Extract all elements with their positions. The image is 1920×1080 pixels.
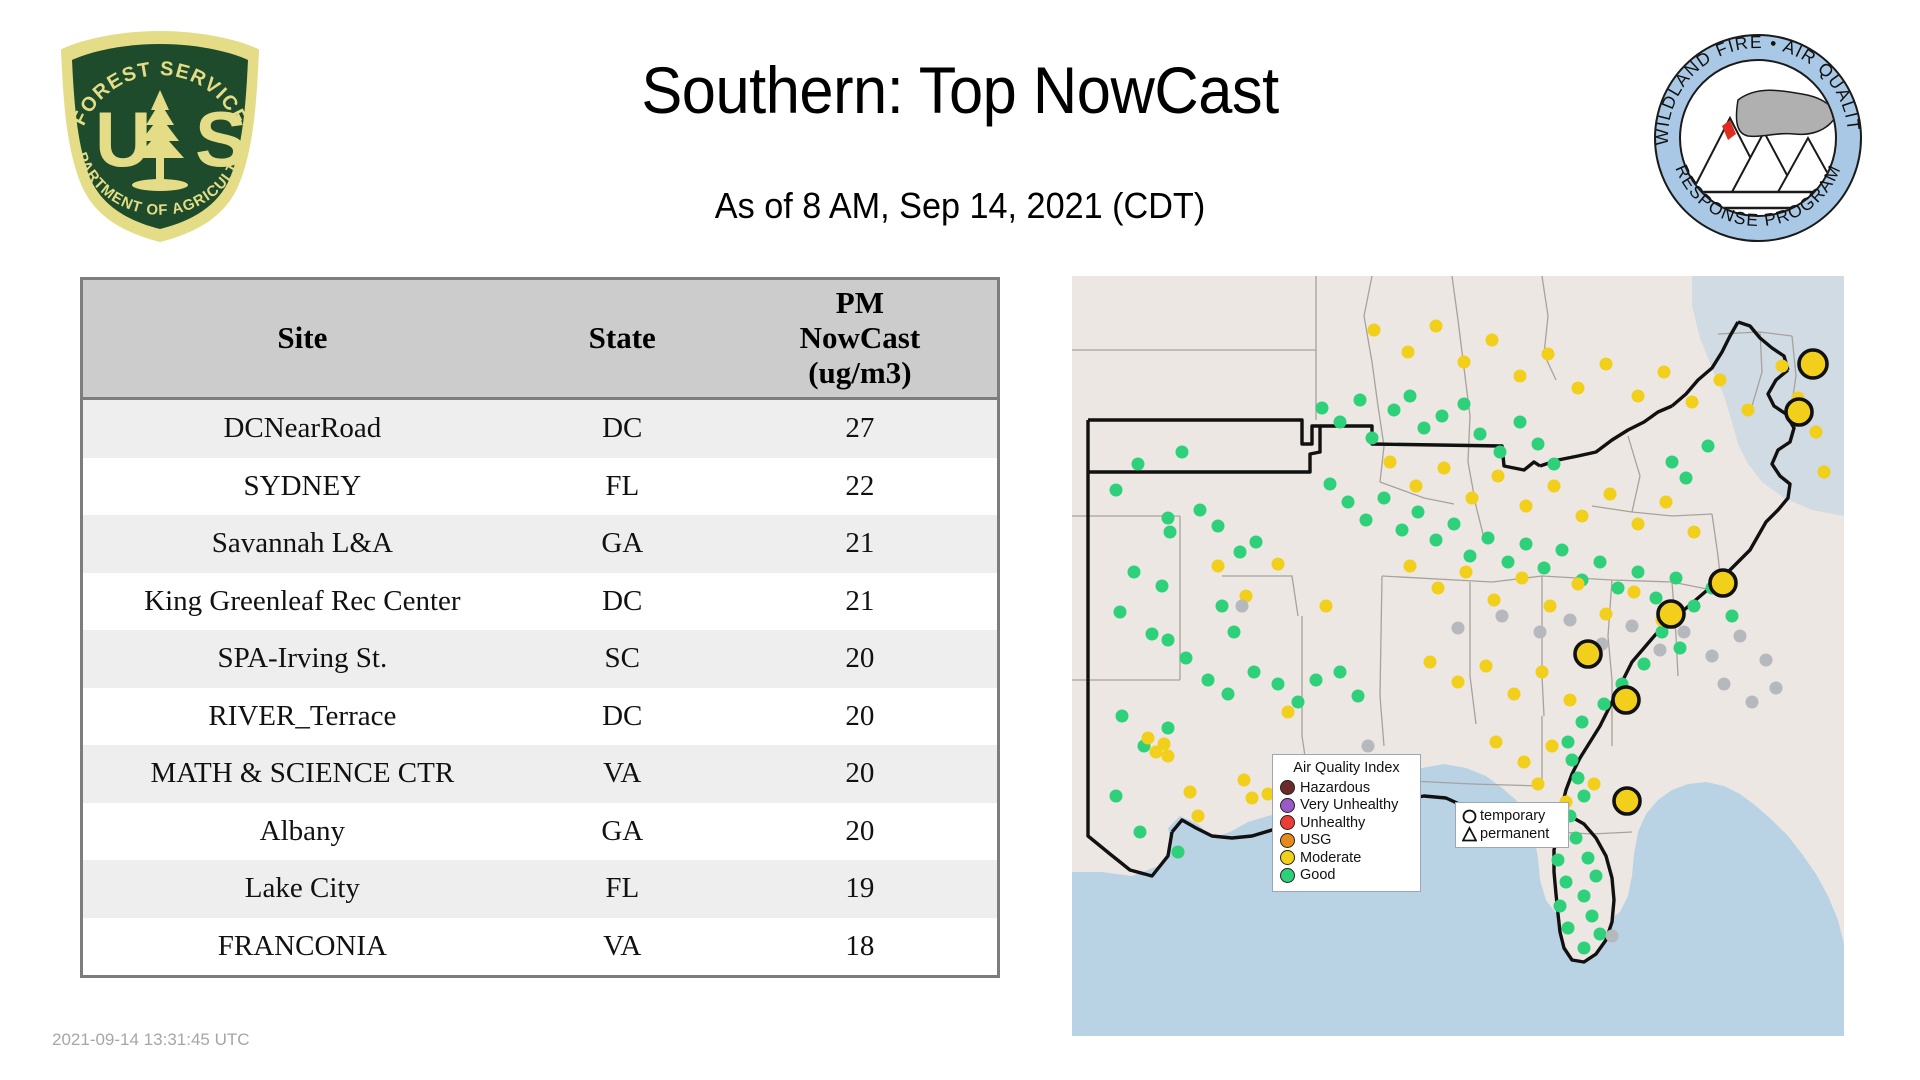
permanent-site-triangle-icon	[1462, 826, 1477, 843]
table-cell-site: SPA-Irving St.	[83, 630, 522, 688]
table-cell-state: GA	[522, 515, 723, 573]
wfaqrp-seal-icon: WILDLAND FIRE • AIR QUALITY RESPONSE PRO…	[1652, 32, 1864, 244]
aqi-legend-item: Very Unhealthy	[1280, 797, 1413, 815]
aqi-legend-item: Moderate	[1280, 849, 1413, 867]
column-header-state: State	[522, 280, 723, 399]
aqi-legend-label: Hazardous	[1300, 781, 1370, 796]
generated-timestamp: 2021-09-14 13:31:45 UTC	[52, 1030, 250, 1050]
table-cell-site: SYDNEY	[83, 458, 522, 516]
table-cell-state: VA	[522, 745, 723, 803]
table-cell-site: MATH & SCIENCE CTR	[83, 745, 522, 803]
aqi-legend-item: Unhealthy	[1280, 814, 1413, 832]
column-header-pm-line3: (ug/m3)	[723, 356, 997, 391]
table-cell-pm: 20	[723, 688, 997, 746]
aqi-swatch-icon	[1280, 868, 1295, 883]
aqi-legend-item: Good	[1280, 867, 1413, 885]
table-row: King Greenleaf Rec CenterDC21	[83, 573, 997, 631]
header: FOREST SERVICE U S DEPARTMENT OF AGRICUL…	[0, 0, 1920, 260]
air-quality-monitor-map[interactable]: Air Quality Index HazardousVery Unhealth…	[1072, 276, 1844, 1036]
top-site-marker-savannah	[1658, 601, 1684, 627]
column-header-pm-line1: PM	[723, 286, 997, 321]
aqi-swatch-icon	[1280, 815, 1295, 830]
top-site-marker-albany	[1575, 641, 1601, 667]
table-cell-site: FRANCONIA	[83, 918, 522, 976]
table-cell-state: SC	[522, 630, 723, 688]
aqi-legend-label: Unhealthy	[1300, 816, 1365, 831]
aqi-swatch-icon	[1280, 798, 1295, 813]
table-row: SPA-Irving St.SC20	[83, 630, 997, 688]
table-row: Savannah L&AGA21	[83, 515, 997, 573]
air-quality-index-legend: Air Quality Index HazardousVery Unhealth…	[1272, 754, 1421, 892]
table-header-row: Site State PM NowCast (ug/m3)	[83, 280, 997, 399]
table-cell-pm: 20	[723, 803, 997, 861]
aqi-legend-label: Very Unhealthy	[1300, 798, 1398, 813]
table-cell-state: FL	[522, 860, 723, 918]
aqi-legend-item: Hazardous	[1280, 779, 1413, 797]
table-row: RIVER_TerraceDC20	[83, 688, 997, 746]
top-site-marker-sydney	[1614, 788, 1640, 814]
table-cell-site: King Greenleaf Rec Center	[83, 573, 522, 631]
top-site-marker-lake-city	[1613, 687, 1639, 713]
temporary-site-circle-icon	[1462, 808, 1477, 825]
aqi-legend-item: USG	[1280, 832, 1413, 850]
aqi-legend-label: USG	[1300, 833, 1331, 848]
site-type-row-permanent: permanent	[1462, 825, 1562, 843]
table-cell-pm: 20	[723, 630, 997, 688]
table-cell-site: Albany	[83, 803, 522, 861]
aqi-swatch-icon	[1280, 833, 1295, 848]
table-cell-site: RIVER_Terrace	[83, 688, 522, 746]
aqi-legend-label: Moderate	[1300, 851, 1361, 866]
table-cell-pm: 21	[723, 515, 997, 573]
aqi-legend-items: HazardousVery UnhealthyUnhealthyUSGModer…	[1280, 779, 1413, 884]
column-header-pm-nowcast: PM NowCast (ug/m3)	[723, 280, 997, 399]
column-header-site: Site	[83, 280, 522, 399]
table-row: AlbanyGA20	[83, 803, 997, 861]
table-cell-state: DC	[522, 399, 723, 458]
table-cell-pm: 21	[723, 573, 997, 631]
table-cell-state: DC	[522, 573, 723, 631]
table-cell-state: GA	[522, 803, 723, 861]
table-cell-state: VA	[522, 918, 723, 976]
table-row: FRANCONIAVA18	[83, 918, 997, 976]
top-site-marker-spa-irving	[1710, 570, 1736, 596]
site-type-label-permanent: permanent	[1480, 826, 1549, 842]
aqi-legend-label: Good	[1300, 868, 1335, 883]
aqi-swatch-icon	[1280, 780, 1295, 795]
top-nowcast-table: Site State PM NowCast (ug/m3) DCNearRoad…	[83, 280, 997, 975]
table-row: SYDNEYFL22	[83, 458, 997, 516]
aqi-legend-title: Air Quality Index	[1280, 760, 1413, 776]
column-header-pm-line2: NowCast	[723, 321, 997, 356]
table-cell-state: DC	[522, 688, 723, 746]
table-row: Lake CityFL19	[83, 860, 997, 918]
table-cell-state: FL	[522, 458, 723, 516]
page-subtitle: As of 8 AM, Sep 14, 2021 (CDT)	[48, 185, 1872, 227]
site-type-label-temporary: temporary	[1480, 808, 1545, 824]
table-row: DCNearRoadDC27	[83, 399, 997, 458]
table-cell-pm: 22	[723, 458, 997, 516]
table-cell-pm: 18	[723, 918, 997, 976]
table-row: MATH & SCIENCE CTRVA20	[83, 745, 997, 803]
table-cell-pm: 19	[723, 860, 997, 918]
table-cell-site: Savannah L&A	[83, 515, 522, 573]
table-cell-site: Lake City	[83, 860, 522, 918]
top-site-marker-dcnearroad	[1799, 350, 1827, 378]
table-body: DCNearRoadDC27SYDNEYFL22Savannah L&AGA21…	[83, 399, 997, 976]
site-type-legend: temporary permanent	[1455, 802, 1569, 848]
table-header: Site State PM NowCast (ug/m3)	[83, 280, 997, 399]
table-cell-pm: 27	[723, 399, 997, 458]
aqi-swatch-icon	[1280, 850, 1295, 865]
site-type-row-temporary: temporary	[1462, 807, 1562, 825]
top-nowcast-table-container: Site State PM NowCast (ug/m3) DCNearRoad…	[80, 277, 1000, 978]
table-cell-site: DCNearRoad	[83, 399, 522, 458]
table-cell-pm: 20	[723, 745, 997, 803]
map-canvas[interactable]	[1072, 276, 1844, 1036]
wildland-fire-air-quality-response-program-logo: WILDLAND FIRE • AIR QUALITY RESPONSE PRO…	[1652, 32, 1864, 244]
top-site-marker-king-greenleaf	[1786, 399, 1812, 425]
page-title: Southern: Top NowCast	[67, 52, 1853, 128]
